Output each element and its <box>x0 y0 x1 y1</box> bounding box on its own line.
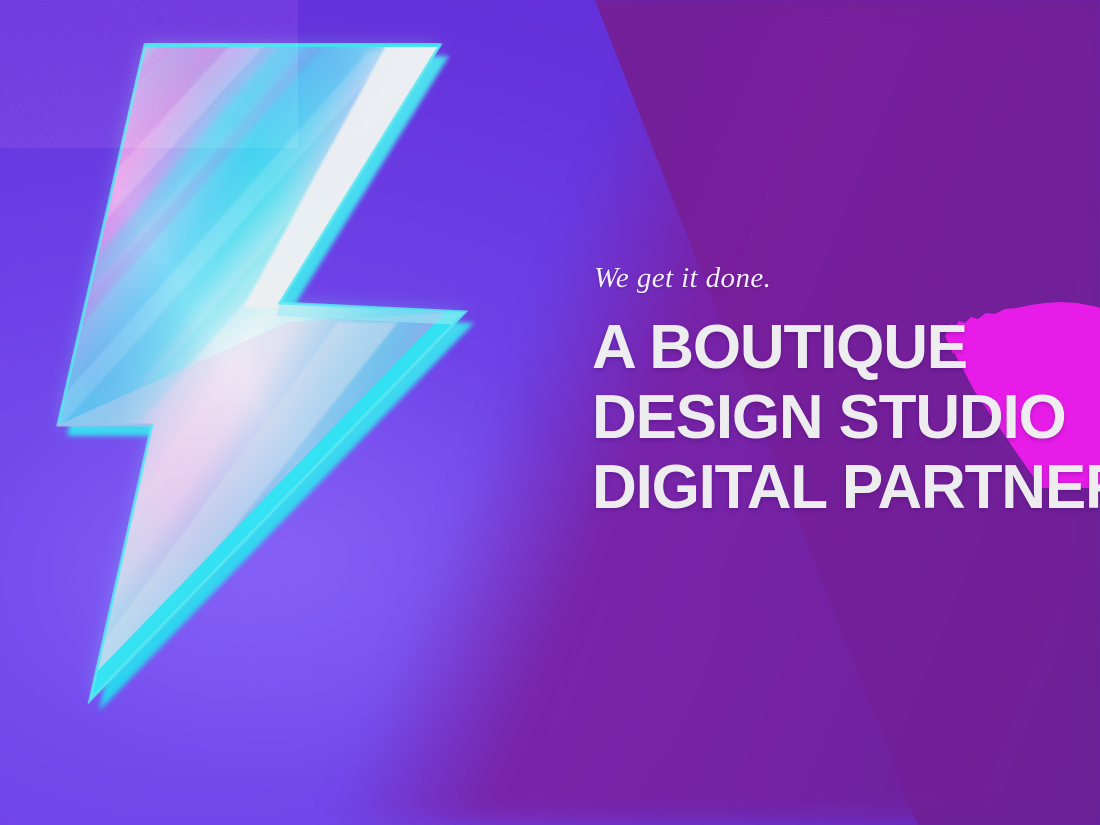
lightning-bolt-icon <box>38 22 468 722</box>
hero-tagline: We get it done. <box>594 262 1100 295</box>
headline-line-1: A BOUTIQUE <box>592 313 1100 383</box>
hero-poster: We get it done. A BOUTIQUE DESIGN STUDIO… <box>0 0 1100 825</box>
headline-line-2: DESIGN STUDIO <box>592 383 1100 453</box>
hero-headline: A BOUTIQUE DESIGN STUDIO DIGITAL PARTNER <box>592 313 1100 523</box>
hero-copy: We get it done. A BOUTIQUE DESIGN STUDIO… <box>592 262 1100 523</box>
headline-line-3: DIGITAL PARTNER <box>592 453 1100 523</box>
